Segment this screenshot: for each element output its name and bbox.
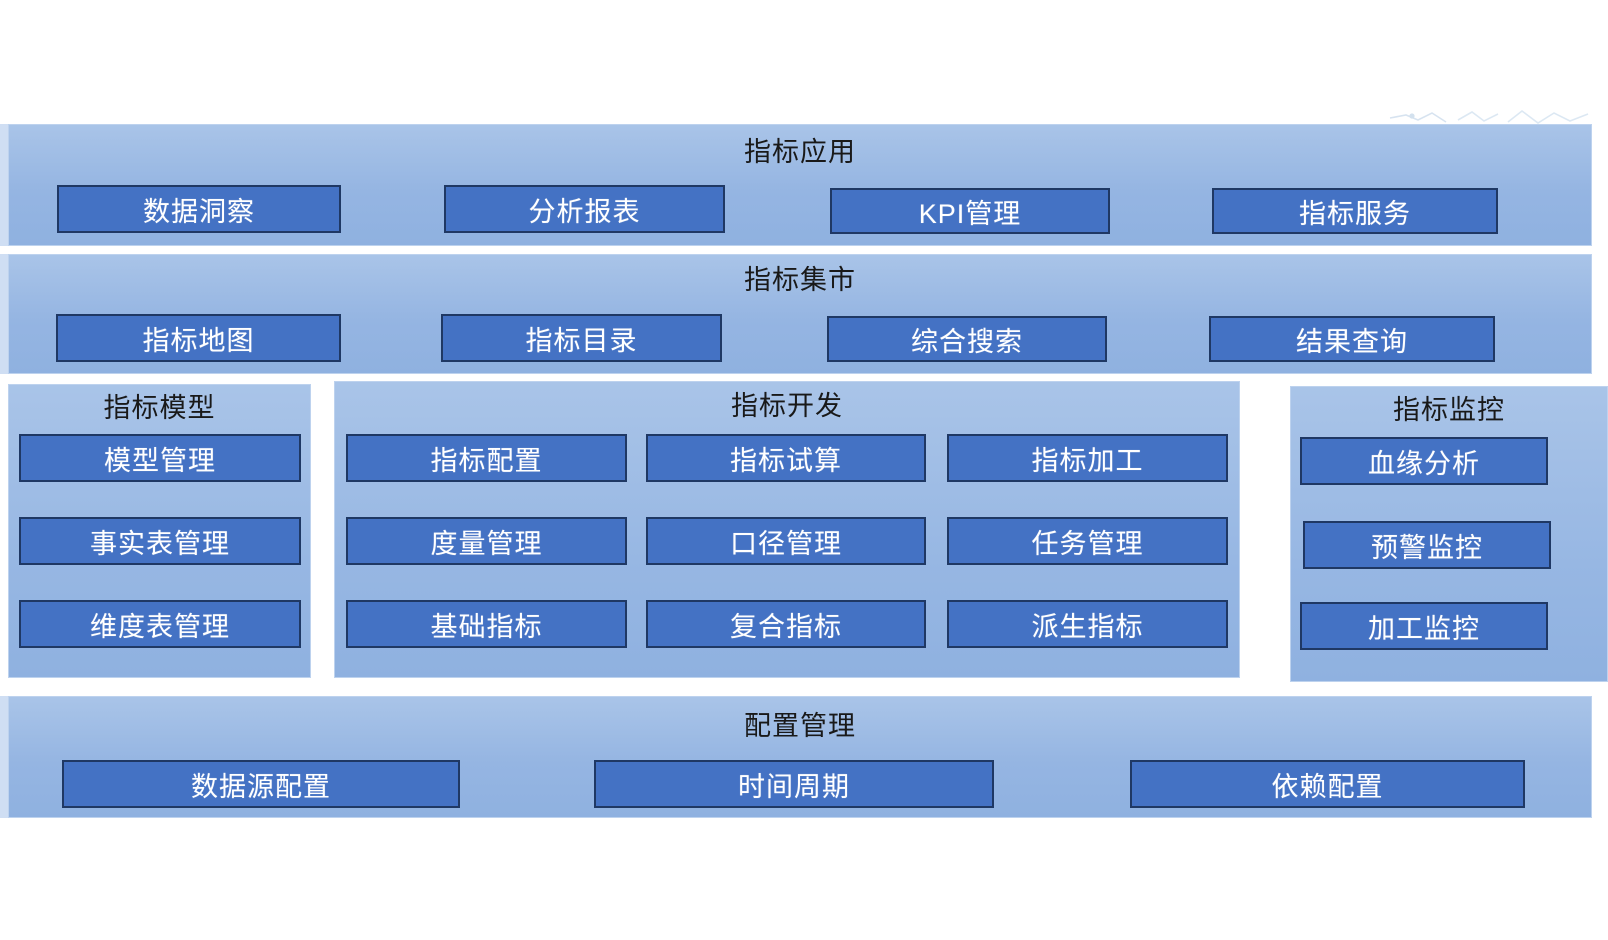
tile-monitor-alert-monitoring[interactable]: 预警监控 xyxy=(1303,521,1551,569)
column-title-metric-model: 指标模型 xyxy=(9,393,310,423)
tile-marketplace-metric-catalog[interactable]: 指标目录 xyxy=(441,314,722,362)
tile-model-fact-table-management[interactable]: 事实表管理 xyxy=(19,517,301,565)
tile-dev-metric-processing[interactable]: 指标加工 xyxy=(947,434,1228,482)
tile-application-kpi-management[interactable]: KPI管理 xyxy=(830,188,1110,234)
tile-dev-task-management[interactable]: 任务管理 xyxy=(947,517,1228,565)
band-title-application: 指标应用 xyxy=(9,137,1591,167)
tile-monitor-lineage-analysis[interactable]: 血缘分析 xyxy=(1300,437,1548,485)
tile-dev-measure-management[interactable]: 度量管理 xyxy=(346,517,627,565)
tile-marketplace-result-query[interactable]: 结果查询 xyxy=(1209,316,1495,362)
tile-marketplace-unified-search[interactable]: 综合搜索 xyxy=(827,316,1107,362)
band-title-marketplace: 指标集市 xyxy=(9,265,1591,295)
tile-marketplace-metric-map[interactable]: 指标地图 xyxy=(56,314,341,362)
tile-model-dimension-table-management[interactable]: 维度表管理 xyxy=(19,600,301,648)
tile-dev-metric-configuration[interactable]: 指标配置 xyxy=(346,434,627,482)
tile-model-model-management[interactable]: 模型管理 xyxy=(19,434,301,482)
column-title-metric-monitoring: 指标监控 xyxy=(1291,395,1607,425)
tile-dev-composite-metric[interactable]: 复合指标 xyxy=(646,600,926,648)
tile-dev-derived-metric[interactable]: 派生指标 xyxy=(947,600,1228,648)
tile-dev-metric-trial-calculation[interactable]: 指标试算 xyxy=(646,434,926,482)
architecture-diagram-canvas: 指标应用 数据洞察 分析报表 KPI管理 指标服务 指标集市 指标地图 指标目录… xyxy=(0,0,1608,940)
tile-application-metric-service[interactable]: 指标服务 xyxy=(1212,188,1498,234)
tile-dev-caliber-management[interactable]: 口径管理 xyxy=(646,517,926,565)
band-title-configuration: 配置管理 xyxy=(9,711,1591,741)
tile-config-time-period[interactable]: 时间周期 xyxy=(594,760,994,808)
tile-application-analysis-report[interactable]: 分析报表 xyxy=(444,185,725,233)
tile-monitor-processing-monitoring[interactable]: 加工监控 xyxy=(1300,602,1548,650)
column-title-metric-development: 指标开发 xyxy=(335,391,1239,421)
tile-config-dependency-configuration[interactable]: 依赖配置 xyxy=(1130,760,1525,808)
tile-application-data-insight[interactable]: 数据洞察 xyxy=(57,185,341,233)
tile-dev-base-metric[interactable]: 基础指标 xyxy=(346,600,627,648)
tile-config-datasource-configuration[interactable]: 数据源配置 xyxy=(62,760,460,808)
